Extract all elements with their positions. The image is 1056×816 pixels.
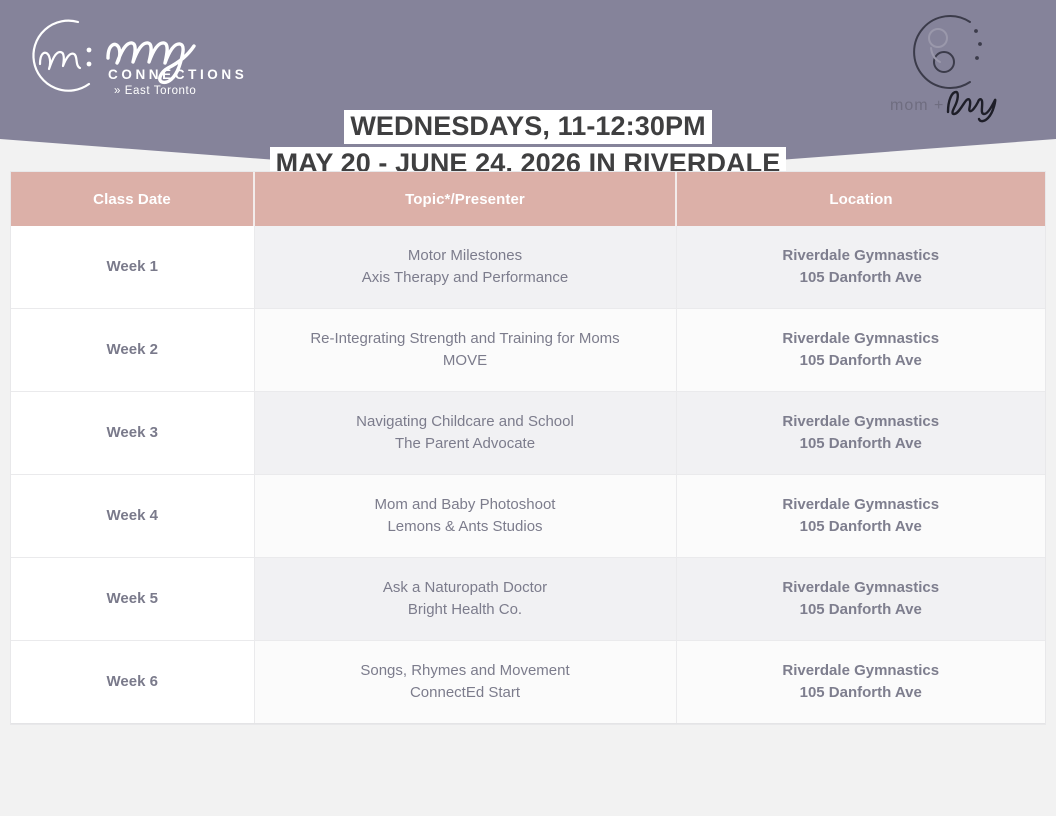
- schedule-table-head: Class Date Topic*/Presenter Location: [11, 172, 1045, 226]
- topic-presenter: The Parent Advocate: [265, 433, 666, 455]
- topic-presenter: MOVE: [265, 350, 666, 372]
- location-name: Riverdale Gymnastics: [687, 245, 1036, 267]
- location-name: Riverdale Gymnastics: [687, 660, 1036, 682]
- location-address: 105 Danforth Ave: [687, 267, 1036, 289]
- topic-presenter: Lemons & Ants Studios: [265, 516, 666, 538]
- mommy-connections-logo: CONNECTIONS » East Toronto: [16, 14, 356, 100]
- table-row: Week 1 Motor Milestones Axis Therapy and…: [11, 226, 1045, 309]
- mom-and-baby-logo-icon: mom +: [882, 6, 1010, 124]
- mom-and-baby-logo: mom +: [882, 6, 1010, 124]
- schedule-table-body: Week 1 Motor Milestones Axis Therapy and…: [11, 226, 1045, 724]
- column-header-topic: Topic*/Presenter: [254, 172, 676, 226]
- column-header-location: Location: [676, 172, 1045, 226]
- cell-location: Riverdale Gymnastics 105 Danforth Ave: [676, 641, 1045, 724]
- mommy-connections-subtitle: CONNECTIONS: [108, 67, 247, 82]
- location-address: 105 Danforth Ave: [687, 433, 1036, 455]
- table-row: Week 3 Navigating Childcare and School T…: [11, 392, 1045, 475]
- cell-topic-presenter: Ask a Naturopath Doctor Bright Health Co…: [254, 558, 676, 641]
- cell-class-date: Week 6: [11, 641, 254, 724]
- column-header-class-date: Class Date: [11, 172, 254, 226]
- table-row: Week 5 Ask a Naturopath Doctor Bright He…: [11, 558, 1045, 641]
- table-row: Week 4 Mom and Baby Photoshoot Lemons & …: [11, 475, 1045, 558]
- cell-location: Riverdale Gymnastics 105 Danforth Ave: [676, 226, 1045, 309]
- cell-topic-presenter: Mom and Baby Photoshoot Lemons & Ants St…: [254, 475, 676, 558]
- cell-location: Riverdale Gymnastics 105 Danforth Ave: [676, 558, 1045, 641]
- table-header-row: Class Date Topic*/Presenter Location: [11, 172, 1045, 226]
- location-address: 105 Danforth Ave: [687, 599, 1036, 621]
- cell-class-date: Week 3: [11, 392, 254, 475]
- topic-title: Ask a Naturopath Doctor: [265, 577, 666, 599]
- topic-title: Navigating Childcare and School: [265, 411, 666, 433]
- cell-class-date: Week 5: [11, 558, 254, 641]
- topic-title: Songs, Rhymes and Movement: [265, 660, 666, 682]
- location-address: 105 Danforth Ave: [687, 516, 1036, 538]
- cell-location: Riverdale Gymnastics 105 Danforth Ave: [676, 392, 1045, 475]
- cell-location: Riverdale Gymnastics 105 Danforth Ave: [676, 309, 1045, 392]
- cell-class-date: Week 2: [11, 309, 254, 392]
- event-title-line-1: WEDNESDAYS, 11-12:30PM: [344, 110, 711, 144]
- table-row: Week 2 Re-Integrating Strength and Train…: [11, 309, 1045, 392]
- topic-title: Re-Integrating Strength and Training for…: [265, 328, 666, 350]
- mommy-connections-logo-icon: CONNECTIONS » East Toronto: [16, 14, 356, 100]
- cell-topic-presenter: Motor Milestones Axis Therapy and Perfor…: [254, 226, 676, 309]
- topic-title: Motor Milestones: [265, 245, 666, 267]
- cell-topic-presenter: Songs, Rhymes and Movement ConnectEd Sta…: [254, 641, 676, 724]
- cell-class-date: Week 1: [11, 226, 254, 309]
- topic-presenter: Axis Therapy and Performance: [265, 267, 666, 289]
- topic-title: Mom and Baby Photoshoot: [265, 494, 666, 516]
- location-name: Riverdale Gymnastics: [687, 411, 1036, 433]
- cell-location: Riverdale Gymnastics 105 Danforth Ave: [676, 475, 1045, 558]
- cell-topic-presenter: Re-Integrating Strength and Training for…: [254, 309, 676, 392]
- event-title: WEDNESDAYS, 11-12:30PM MAY 20 - JUNE 24,…: [0, 110, 1056, 181]
- location-address: 105 Danforth Ave: [687, 350, 1036, 372]
- class-schedule-table: Class Date Topic*/Presenter Location Wee…: [11, 172, 1045, 724]
- mommy-connections-location-tag: » East Toronto: [114, 85, 196, 97]
- location-name: Riverdale Gymnastics: [687, 494, 1036, 516]
- location-address: 105 Danforth Ave: [687, 682, 1036, 704]
- cell-class-date: Week 4: [11, 475, 254, 558]
- cell-topic-presenter: Navigating Childcare and School The Pare…: [254, 392, 676, 475]
- topic-presenter: Bright Health Co.: [265, 599, 666, 621]
- table-row: Week 6 Songs, Rhymes and Movement Connec…: [11, 641, 1045, 724]
- location-name: Riverdale Gymnastics: [687, 577, 1036, 599]
- topic-presenter: ConnectEd Start: [265, 682, 666, 704]
- location-name: Riverdale Gymnastics: [687, 328, 1036, 350]
